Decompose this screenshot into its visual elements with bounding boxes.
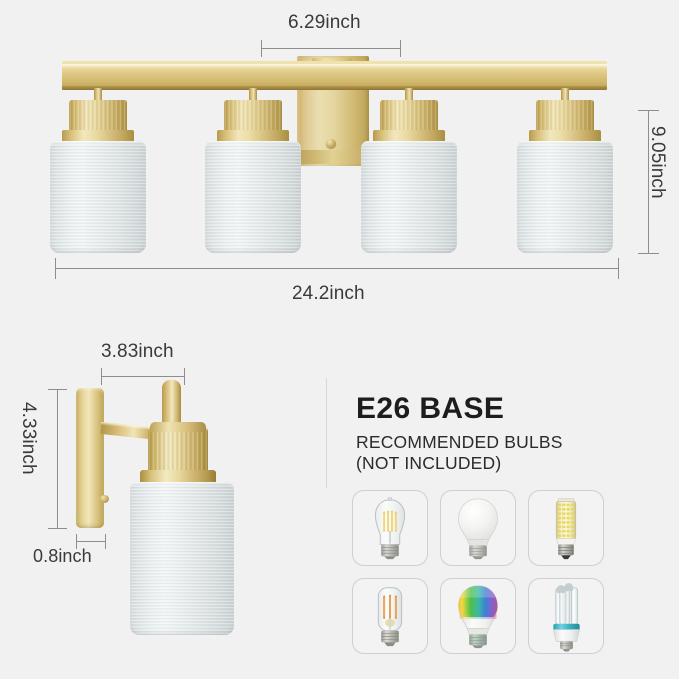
dimension-tick-top-height bbox=[638, 110, 659, 111]
dimension-tick-right-backplate bbox=[400, 40, 401, 57]
dimension-line-backplate-width bbox=[261, 48, 401, 49]
backplate-lower-body bbox=[300, 150, 366, 164]
dimension-tick-left-backplate bbox=[261, 40, 262, 57]
dimension-line-sconce-height bbox=[57, 389, 58, 528]
lamp-shade-1 bbox=[50, 141, 146, 253]
lamp-socket-ridges-4 bbox=[536, 100, 594, 132]
dimension-line-sconce-projection bbox=[101, 376, 185, 377]
dimension-line-fixture-width bbox=[55, 268, 619, 269]
lamp-socket-ridges-2 bbox=[224, 100, 282, 132]
dimension-tick-left-projection bbox=[101, 368, 102, 385]
bulb-tile-t45-tubular-filament[interactable] bbox=[352, 578, 428, 654]
sconce-socket-shoulder bbox=[150, 422, 206, 432]
dimension-tick-bottom-height bbox=[638, 253, 659, 254]
bulb-tile-4u-cfl-bulb[interactable] bbox=[528, 578, 604, 654]
dimension-tick-right-width bbox=[618, 258, 619, 279]
dimension-tick-right-depth bbox=[105, 534, 106, 549]
dimension-line-backplate-depth bbox=[76, 541, 106, 542]
a19-frosted-bulb-icon bbox=[441, 491, 515, 565]
dimension-tick-bottom-sconce-height bbox=[48, 528, 67, 529]
dimension-label-backplate-width: 6.29inch bbox=[288, 12, 361, 34]
rgb-smart-bulb-icon bbox=[441, 579, 515, 653]
dimension-tick-right-projection bbox=[184, 368, 185, 385]
sconce-plate-screw bbox=[100, 495, 109, 503]
bulb-tile-a19-frosted-led[interactable] bbox=[440, 490, 516, 566]
sconce-wall-plate bbox=[76, 388, 104, 528]
corn-led-bulb-icon bbox=[529, 491, 603, 565]
bulb-tile-st64-edison-filament[interactable] bbox=[352, 490, 428, 566]
recommended-bulbs-line1: RECOMMENDED BULBS bbox=[356, 432, 563, 453]
diagram-canvas: 6.29inch bbox=[0, 0, 679, 679]
dimension-label-backplate-depth: 0.8inch bbox=[33, 546, 92, 567]
tubular-t45-bulb-icon bbox=[353, 579, 427, 653]
dimension-label-sconce-projection: 3.83inch bbox=[101, 341, 174, 363]
dimension-tick-left-width bbox=[55, 258, 56, 279]
sconce-glass-shade bbox=[130, 482, 234, 635]
crossbar-bottom-edge bbox=[62, 86, 607, 90]
bulb-recommendation-panel: E26 BASE RECOMMENDED BULBS (NOT INCLUDED… bbox=[340, 380, 679, 679]
crossbar-highlight bbox=[62, 64, 607, 68]
single-sconce-illustration: 3.83inch 4.33inch 0.8inch bbox=[0, 330, 330, 679]
cfl-4u-bulb-icon bbox=[529, 579, 603, 653]
backplate-screw-knob bbox=[326, 139, 336, 148]
lamp-shade-4 bbox=[517, 141, 613, 253]
bulb-tile-led-corn-bulb[interactable] bbox=[528, 490, 604, 566]
edison-st64-bulb-icon bbox=[353, 491, 427, 565]
dimension-label-sconce-height: 4.33inch bbox=[17, 402, 39, 475]
section-divider bbox=[326, 378, 327, 488]
lamp-shade-3 bbox=[361, 141, 457, 253]
bulb-tile-rgb-smart-bulb[interactable] bbox=[440, 578, 516, 654]
dimension-label-fixture-width: 24.2inch bbox=[292, 283, 365, 305]
recommended-bulbs-line2: (NOT INCLUDED) bbox=[356, 453, 501, 474]
e26-base-heading: E26 BASE bbox=[356, 392, 504, 426]
dimension-label-fixture-height: 9.05inch bbox=[646, 126, 668, 199]
dimension-tick-top-sconce-height bbox=[48, 389, 67, 390]
lamp-socket-ridges-1 bbox=[69, 100, 127, 132]
main-fixture-illustration: 6.29inch bbox=[0, 0, 679, 320]
lamp-socket-ridges-3 bbox=[380, 100, 438, 132]
lamp-shade-2 bbox=[205, 141, 301, 253]
sconce-socket-ridges bbox=[148, 428, 208, 474]
